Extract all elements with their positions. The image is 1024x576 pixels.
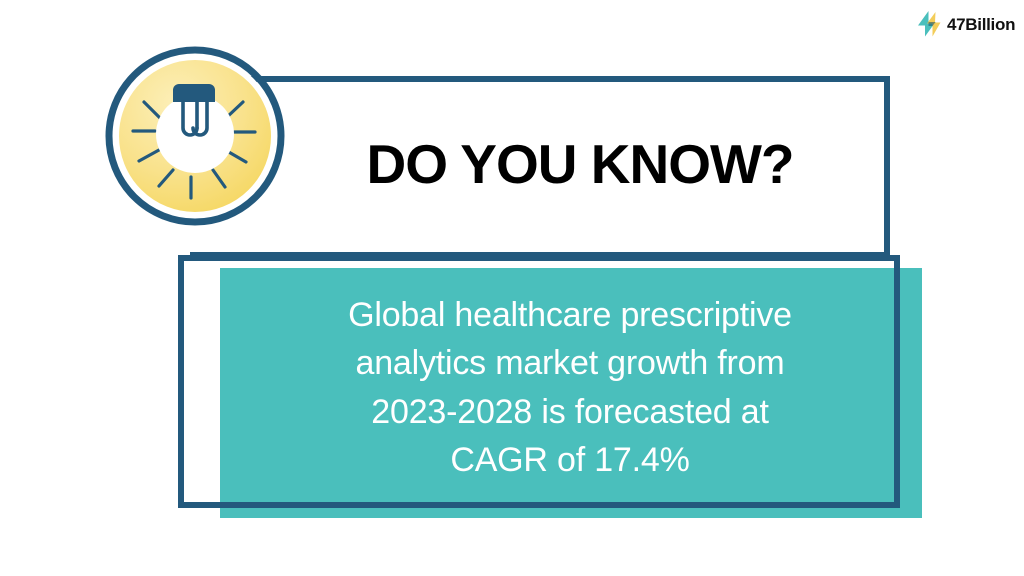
lightbulb-icon: [103, 46, 287, 226]
page-title: DO YOU KNOW?: [300, 124, 860, 204]
brand-name: 47Billion: [947, 16, 1015, 33]
brand-logo[interactable]: 47Billion: [916, 10, 1015, 38]
infographic-canvas: 47Billion DO YOU KNOW? Global healthcare…: [0, 0, 1024, 576]
lightning-bolt-icon: [916, 10, 942, 38]
statement-outline-frame: [178, 255, 900, 508]
